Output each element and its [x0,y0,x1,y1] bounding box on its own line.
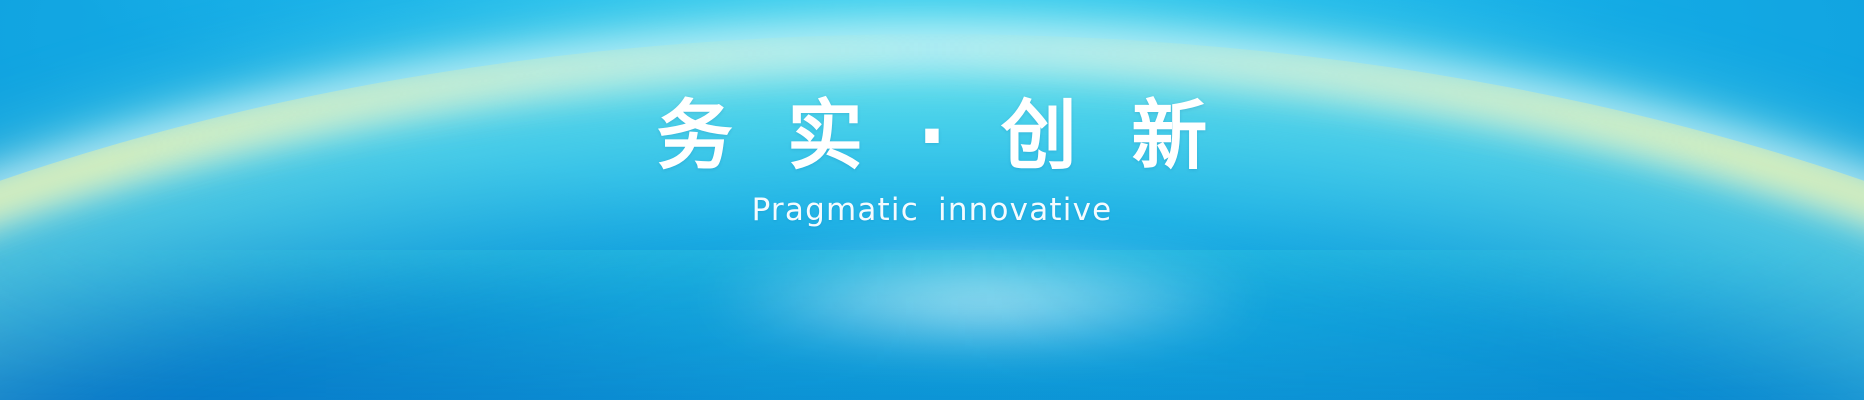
banner-headline: 务 实 · 创 新 [643,96,1222,176]
banner-content: 务 实 · 创 新 Pragmatic innovative [0,0,1864,400]
banner-subtitle: Pragmatic innovative [752,192,1113,228]
hero-banner: 务 实 · 创 新 Pragmatic innovative [0,0,1864,400]
